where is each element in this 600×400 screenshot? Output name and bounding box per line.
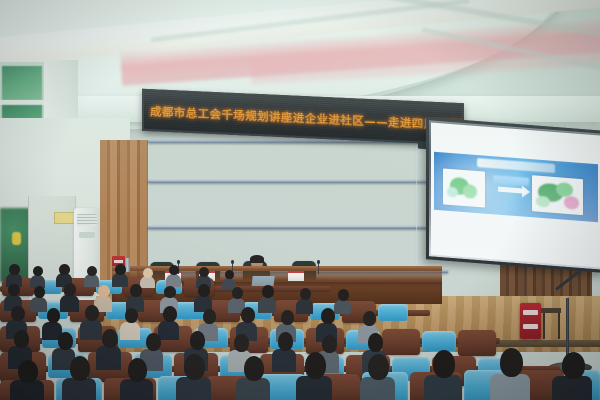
person-head [184,354,205,380]
person-head [102,329,118,348]
person-body [296,376,332,400]
person-head [203,309,216,324]
person-head [146,333,161,351]
person-head [58,332,73,350]
person-body [120,379,153,400]
projection-screen [426,117,600,273]
person-head [115,264,126,275]
person-head [278,332,293,351]
person-head [190,331,205,350]
audience-person [30,266,45,287]
person-body [272,349,296,372]
audience-person [10,360,44,400]
audience-person [194,284,212,311]
screen-surface [431,122,600,267]
person-head [199,267,209,277]
ac-control-panel [79,232,95,238]
wall-metal-strip [148,180,448,183]
person-body [360,377,395,400]
person-head [321,308,335,324]
audience-person [424,350,462,400]
auditorium-photo: 成都市总工会千场规划讲座进企业进社区——走进四川工商职院 [0,0,600,400]
person-head [305,352,326,379]
person-head [163,306,177,322]
audience-person [120,308,140,339]
audience-person [84,266,99,286]
audience-person [552,352,592,400]
person-head [64,283,76,296]
person-body [258,297,276,313]
audience-person [296,288,313,313]
person-head [128,358,147,382]
seat [378,304,408,321]
person-body [96,346,121,370]
person-body [62,378,96,400]
person-body [296,299,313,314]
seating-area [0,262,600,400]
person-body [236,378,270,400]
person-head [300,288,311,300]
person-head [363,311,376,326]
person-head [11,306,25,321]
person-head [244,356,264,381]
person-body [424,375,462,400]
audience-person [176,354,211,400]
person-head [225,270,234,279]
person-head [262,285,274,298]
slide-map-before [443,169,485,208]
person-head [70,356,90,381]
ac-grill [77,214,97,226]
audience-person [296,352,332,400]
person-head [433,350,455,378]
window-pane [2,66,42,100]
wall-metal-strip [148,226,448,229]
person-body [176,377,211,400]
person-head [338,289,349,301]
person-body [490,374,530,400]
map-region [447,186,458,198]
person-head [87,266,97,276]
person-head [562,352,585,379]
person-head [232,287,243,299]
person-head [18,360,38,383]
yellow-marker [12,232,21,245]
audience-person [360,354,395,400]
audience-person [62,356,96,400]
person-head [234,334,249,352]
person-head [281,310,294,325]
audience-person [490,348,530,400]
person-head [8,284,20,296]
person-head [169,265,179,275]
slide-map-after [532,176,583,216]
person-head [34,286,45,298]
hanging-cable [416,144,417,264]
person-head [322,335,337,353]
seat [382,329,420,355]
person-head [47,308,60,323]
audience-person [60,283,79,311]
person-head [59,264,70,275]
person-head [143,268,153,278]
map-region [564,195,579,210]
audience-person [222,270,236,288]
audience-person [126,284,144,311]
person-head [500,348,523,377]
person-head [125,308,138,323]
person-head [164,286,176,298]
person-head [241,307,255,323]
audience-person [236,356,270,400]
audience-person [6,264,22,286]
seat [422,331,456,351]
audience-person [120,358,153,400]
map-region [463,184,477,200]
audience-person [112,264,128,286]
person-body [120,322,140,340]
person-head [368,333,383,352]
person-head [198,284,210,297]
person-head [98,285,110,297]
audience-person [96,329,121,369]
audience-person [258,285,276,312]
person-head [130,284,142,297]
person-head [14,330,29,348]
person-body [552,376,592,400]
person-head [85,305,99,321]
audience-person [166,265,181,286]
person-body [10,380,44,400]
presentation-slide [434,152,597,223]
person-body [60,295,79,312]
audience-person [272,332,296,371]
person-head [33,266,43,276]
person-head [368,354,389,380]
person-head [9,264,20,275]
